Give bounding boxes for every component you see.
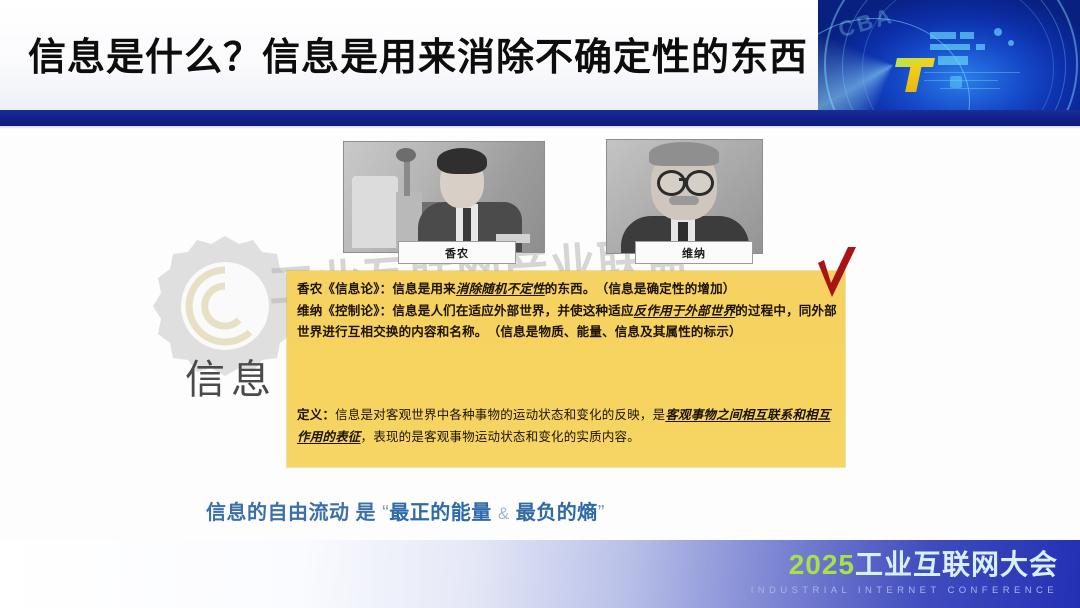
header-tech-graphic: CBA [818,0,1080,110]
portrait-photo-shannon [343,141,545,253]
shannon-text-b: 的东西。 （信息是 [545,282,647,296]
tagline-ampersand: & [498,504,510,523]
wiener-source-label: 维纳《控制论》： [297,304,392,318]
portrait-photo-wiener [606,139,763,254]
tagline: 信息的自由流动 是 “最正的能量 & 最负的熵” [206,496,605,525]
header-divider-shadow [0,126,1080,129]
page-title: 信息是什么？信息是用来消除不确定性的东西 [28,26,808,81]
wiener-bold-phrase: 物质、能量、信息及其属性的标示 [539,325,730,339]
graphic-circuit-cluster [920,14,1070,100]
definition-paragraph: 定义：信息是对客观世界中各种事物的运动状态和变化的反映，是客观事物之间相互联系和… [297,405,839,448]
definition-content-box: 香农《信息论》：信息是用来消除随机不定性的东西。 （信息是确定性的增加） 维纳《… [287,271,845,467]
tagline-term-one: 最正的能量 [389,502,492,524]
conference-logo-en: INDUSTRIAL INTERNET CONFERENCE [751,585,1058,596]
slide-footer: 2025工业互联网大会 INDUSTRIAL INTERNET CONFEREN… [0,540,1080,608]
caption-wiener: 维纳 [635,241,753,264]
conference-logo: 2025工业互联网大会 INDUSTRIAL INTERNET CONFEREN… [751,551,1058,596]
wiener-text-a: 信息是人们在适应外部世界，并使这种适应 [392,304,633,318]
header-divider-bar [0,110,1080,126]
conference-logo-cn: 工业互联网大会 [855,549,1058,580]
slide-root: 信息是什么？信息是用来消除不确定性的东西 CBA [0,0,1080,608]
section-label-information: 信息 [185,347,277,405]
tagline-close-quote: ” [598,502,605,524]
caption-shannon: 香农 [398,241,516,264]
shannon-bold-phrase: 确定性的增加 [647,282,723,296]
t-logo-icon [894,58,936,92]
tagline-term-two: 最负的熵 [516,502,598,524]
conference-logo-main: 2025工业互联网大会 [751,551,1058,579]
conference-logo-year: 2025 [789,549,855,580]
shannon-emphasis: 消除随机不定性 [456,282,545,296]
definition-label: 定义： [297,408,335,422]
wiener-text-c: ） [729,325,742,339]
slide-header: 信息是什么？信息是用来消除不确定性的东西 CBA [0,0,1080,110]
definition-text-a: 信息是对客观世界中各种事物的运动状态和变化的反映，是 [335,408,665,422]
red-checkmark-icon [815,247,859,305]
shannon-text-a: 信息是用来 [392,282,456,296]
tagline-lead: 信息的自由流动 是 [206,502,376,524]
shannon-source-label: 香农《信息论》： [297,282,392,296]
definition-text-b: ，表现的是客观事物运动状态和变化的实质内容。 [361,430,640,444]
shannon-text-c: ） [723,282,736,296]
scholar-quotes-paragraph: 香农《信息论》：信息是用来消除随机不定性的东西。 （信息是确定性的增加） 维纳《… [297,279,839,344]
wiener-emphasis: 反作用于外部世界 [634,304,736,318]
